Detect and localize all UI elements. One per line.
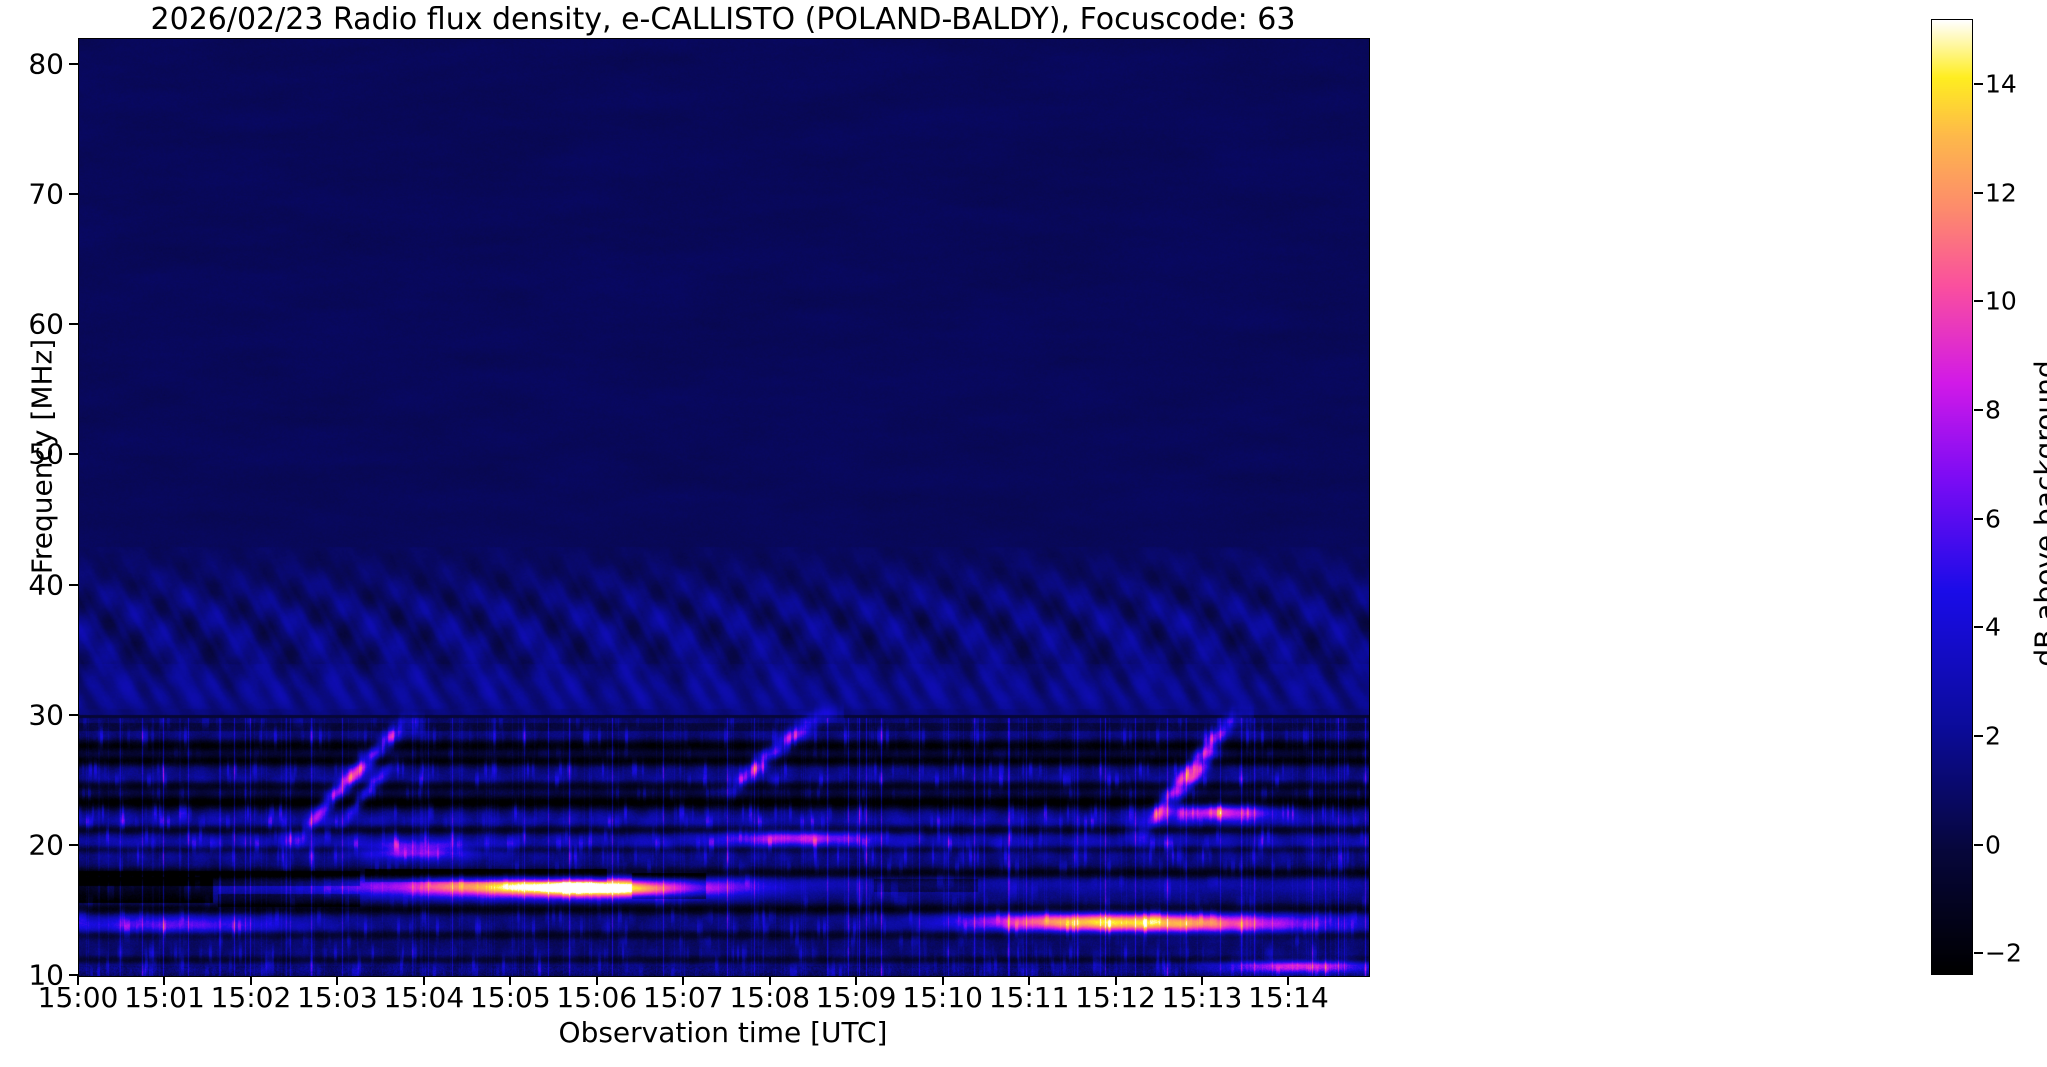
x-tick-label: 15:02 (211, 981, 292, 1014)
y-tick-mark (69, 63, 78, 65)
x-tick-label: 15:01 (124, 981, 205, 1014)
colorbar-tick-label: 8 (1985, 396, 2001, 425)
spectrogram-axes (78, 38, 1370, 977)
x-tick-mark (509, 976, 511, 985)
page-title: 2026/02/23 Radio flux density, e-CALLIST… (78, 2, 1368, 38)
x-tick-label: 15:13 (1162, 981, 1243, 1014)
colorbar-tick-mark (1974, 83, 1983, 85)
x-tick-mark (769, 976, 771, 985)
colorbar-label: dB above background (2029, 204, 2047, 824)
x-tick-mark (596, 976, 598, 985)
colorbar-tick-label: 2 (1985, 722, 2001, 751)
y-tick-mark (69, 714, 78, 716)
colorbar-tick-label: −2 (1985, 939, 2022, 968)
x-tick-mark (423, 976, 425, 985)
y-tick-mark (69, 193, 78, 195)
x-tick-mark (1028, 976, 1030, 985)
spectrogram-image (79, 39, 1369, 976)
x-tick-label: 15:00 (38, 981, 119, 1014)
figure-canvas: 2026/02/23 Radio flux density, e-CALLIST… (0, 0, 2047, 1067)
y-tick-mark (69, 453, 78, 455)
x-axis-label: Observation time [UTC] (78, 1016, 1368, 1049)
y-tick-label: 50 (28, 438, 64, 471)
colorbar-tick-mark (1974, 409, 1983, 411)
colorbar (1931, 19, 1973, 975)
x-tick-label: 15:06 (556, 981, 637, 1014)
x-tick-mark (163, 976, 165, 985)
colorbar-tick-mark (1974, 626, 1983, 628)
y-tick-mark (69, 844, 78, 846)
x-tick-label: 15:05 (470, 981, 551, 1014)
y-tick-label: 60 (28, 308, 64, 341)
x-tick-label: 15:03 (297, 981, 378, 1014)
x-tick-mark (77, 976, 79, 985)
colorbar-gradient (1931, 19, 1973, 975)
colorbar-tick-label: 6 (1985, 504, 2001, 533)
x-tick-label: 15:14 (1248, 981, 1329, 1014)
x-tick-mark (250, 976, 252, 985)
x-tick-label: 15:10 (902, 981, 983, 1014)
x-tick-mark (336, 976, 338, 985)
y-tick-label: 80 (28, 48, 64, 81)
x-tick-mark (855, 976, 857, 985)
colorbar-tick-label: 12 (1985, 178, 2017, 207)
x-tick-mark (1201, 976, 1203, 985)
colorbar-tick-mark (1974, 952, 1983, 954)
x-tick-label: 15:04 (383, 981, 464, 1014)
colorbar-tick-label: 4 (1985, 613, 2001, 642)
colorbar-tick-label: 10 (1985, 287, 2017, 316)
x-tick-label: 15:07 (643, 981, 724, 1014)
colorbar-tick-mark (1974, 844, 1983, 846)
y-tick-mark (69, 323, 78, 325)
x-tick-label: 15:08 (729, 981, 810, 1014)
x-tick-label: 15:12 (1075, 981, 1156, 1014)
y-tick-label: 30 (28, 698, 64, 731)
x-tick-label: 15:09 (816, 981, 897, 1014)
x-tick-mark (1115, 976, 1117, 985)
colorbar-tick-label: 14 (1985, 70, 2017, 99)
x-tick-mark (682, 976, 684, 985)
colorbar-tick-mark (1974, 735, 1983, 737)
y-tick-label: 40 (28, 568, 64, 601)
colorbar-tick-label: 0 (1985, 830, 2001, 859)
y-tick-mark (69, 584, 78, 586)
y-tick-label: 70 (28, 178, 64, 211)
x-tick-label: 15:11 (989, 981, 1070, 1014)
y-tick-label: 20 (28, 828, 64, 861)
x-tick-mark (942, 976, 944, 985)
colorbar-tick-mark (1974, 300, 1983, 302)
colorbar-tick-mark (1974, 518, 1983, 520)
x-tick-mark (1287, 976, 1289, 985)
colorbar-tick-mark (1974, 192, 1983, 194)
